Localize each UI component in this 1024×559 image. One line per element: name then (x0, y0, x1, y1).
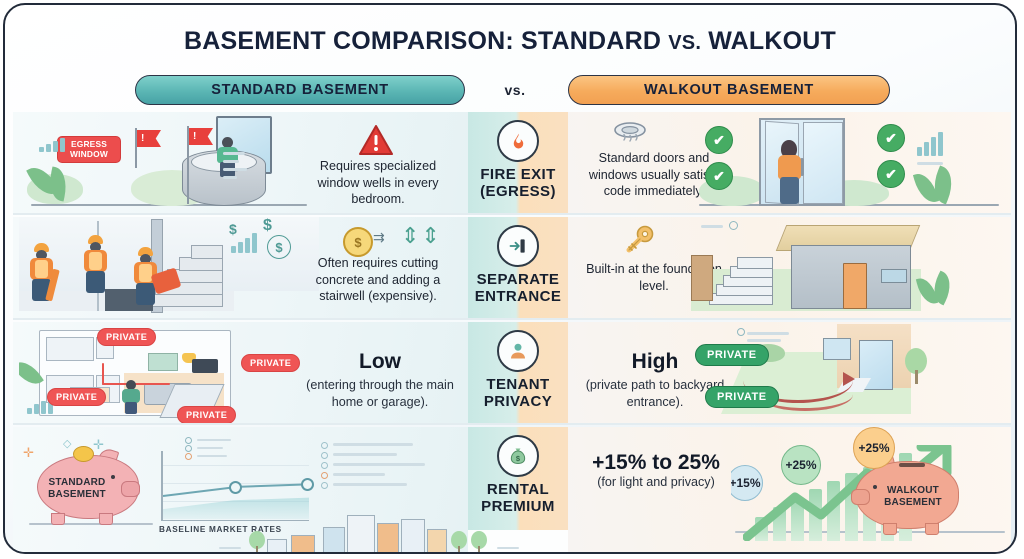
column-header-walkout-label: WALKOUT BASEMENT (644, 82, 814, 98)
path-arrow-icon (843, 372, 855, 386)
infographic-frame: BASEMENT COMPARISON: STANDARD VS. WALKOU… (3, 3, 1017, 554)
row-center-label-line1: FIRE EXIT (480, 166, 555, 183)
walkout-door-graphic (843, 263, 867, 309)
row-center-panel: TENANT PRIVACY (468, 322, 568, 425)
versus-label: vs. (465, 75, 565, 105)
rental-premium-value: +15% to 25% (573, 451, 739, 475)
check-icon-2: ✔ (705, 162, 733, 190)
check-icon-4: ✔ (877, 160, 905, 188)
column-header-standard-label: STANDARD BASEMENT (211, 82, 389, 98)
rental-premium-note: (for light and privacy) (573, 475, 739, 489)
left-cell-text: Often requires cutting concrete and addi… (303, 255, 453, 305)
sparkle-icon-3: ✛ (93, 437, 104, 453)
comparison-row-rental-premium: $ RENTAL PREMIUM STANDARD BASEMENT (13, 427, 1011, 554)
mini-bar-chart-icon-2 (917, 132, 943, 156)
left-cell-text: (entering through the main home or garag… (306, 378, 454, 409)
dollar-symbol-1: $ (229, 221, 237, 237)
city-skyline-graphic (213, 513, 773, 554)
comparison-row-separate-entrance: SEPARATE ENTRANCE (13, 217, 1011, 320)
dollar-symbol-2: $ (263, 217, 272, 235)
private-badge-2: PRIVATE (241, 354, 300, 372)
baseline-market-chart (159, 451, 309, 521)
smoke-detector-icon (610, 120, 650, 152)
row-center-panel: FIRE EXIT (EGRESS) (468, 112, 568, 215)
private-badge-4: PRIVATE (177, 406, 236, 424)
private-badge-walkout-2: PRIVATE (705, 386, 779, 408)
page-title: BASEMENT COMPARISON: STANDARD VS. WALKOU… (5, 27, 1015, 56)
tenant-person-icon (121, 380, 141, 414)
row-center-panel: SEPARATE ENTRANCE (468, 217, 568, 320)
private-badge-1: PRIVATE (97, 328, 156, 346)
list-lines-graphic (313, 439, 463, 509)
person-in-well-icon (214, 137, 240, 177)
warning-triangle-icon (358, 124, 394, 156)
illustration-interior-floorplan: PRIVATE PRIVATE PRIVATE PRIVATE (19, 322, 319, 425)
column-header-standard: STANDARD BASEMENT (135, 75, 465, 105)
mini-bar-chart-icon (39, 138, 65, 152)
warning-flag-icon-2: ! (187, 126, 215, 204)
right-cell-value-block: +15% to 25% (for light and privacy) (573, 451, 739, 489)
worker-icon-2 (81, 235, 111, 293)
page-title-vs: VS. (668, 32, 701, 54)
warning-flag-icon: ! (135, 128, 163, 168)
piggy-bank-walkout-label: WALKOUT BASEMENT (877, 485, 949, 509)
person-walking-icon (775, 140, 805, 204)
premium-bubble-25-a: +25% (781, 445, 821, 485)
coin-icon: $ (343, 227, 373, 257)
money-bag-icon: $ (497, 435, 539, 477)
check-icon-3: ✔ (877, 124, 905, 152)
premium-bubble-25-b: +25% (853, 427, 895, 469)
key-icon (623, 225, 657, 255)
person-icon (497, 330, 539, 372)
illustration-walkout-door: ✔ ✔ ✔ ✔ (691, 112, 1011, 215)
egress-window-tag: EGRESS WINDOW (57, 136, 121, 163)
flame-icon (497, 120, 539, 162)
tree-icon (905, 348, 927, 384)
exterior-stairs-graphic (709, 253, 771, 303)
row-center-label-line2: (EGRESS) (480, 183, 556, 200)
row-center-label: FIRE EXIT (EGRESS) (480, 167, 556, 201)
illustration-walkout-foundation (691, 217, 1011, 320)
illustration-concrete-cutting: $ $ $ (19, 217, 319, 320)
left-cell-value-block: Low (entering through the main home or g… (305, 348, 455, 410)
comparison-row-tenant-privacy: TENANT PRIVACY (13, 322, 1011, 425)
door-enter-icon (497, 225, 539, 267)
private-badge-walkout-1: PRIVATE (695, 344, 769, 366)
piggy-bank-standard: STANDARD BASEMENT (37, 455, 139, 519)
left-cell-value: Low (305, 348, 455, 376)
page-title-main: BASEMENT COMPARISON: STANDARD (184, 27, 661, 55)
private-badge-3: PRIVATE (47, 388, 106, 406)
row-center-label: SEPARATE ENTRANCE (475, 272, 562, 306)
piggy-bank-standard-label: STANDARD BASEMENT (45, 477, 109, 501)
comparison-row-fire-exit: FIRE EXIT (EGRESS) EGRESS WINDOW ! (13, 112, 1011, 215)
dollar-coin-icon: $ (267, 235, 291, 259)
updown-arrows-icon: ⇕⇕ (401, 223, 442, 249)
illustration-egress-window: EGRESS WINDOW ! ! (19, 112, 319, 215)
row-center-label: TENANT PRIVACY (484, 377, 552, 411)
house-foundation-graphic (763, 225, 913, 309)
sparkle-icon-1: ✛ (23, 445, 34, 461)
sparkle-icon-2: ◇ (63, 437, 71, 450)
check-icon-1: ✔ (705, 126, 733, 154)
illustration-walkout-growth: WALKOUT BASEMENT +15% +25% +25% (731, 427, 1017, 554)
left-cell-text: Requires specialized window wells in eve… (303, 158, 453, 208)
arrow-right-icon: ⇉ (373, 229, 385, 246)
column-header-walkout: WALKOUT BASEMENT (568, 75, 890, 105)
illustration-backyard-path: PRIVATE PRIVATE (691, 322, 1011, 425)
page-title-tail: WALKOUT (708, 27, 836, 55)
row-center-label: RENTAL PREMIUM (481, 482, 555, 516)
piggy-bank-walkout: WALKOUT BASEMENT (855, 461, 959, 529)
